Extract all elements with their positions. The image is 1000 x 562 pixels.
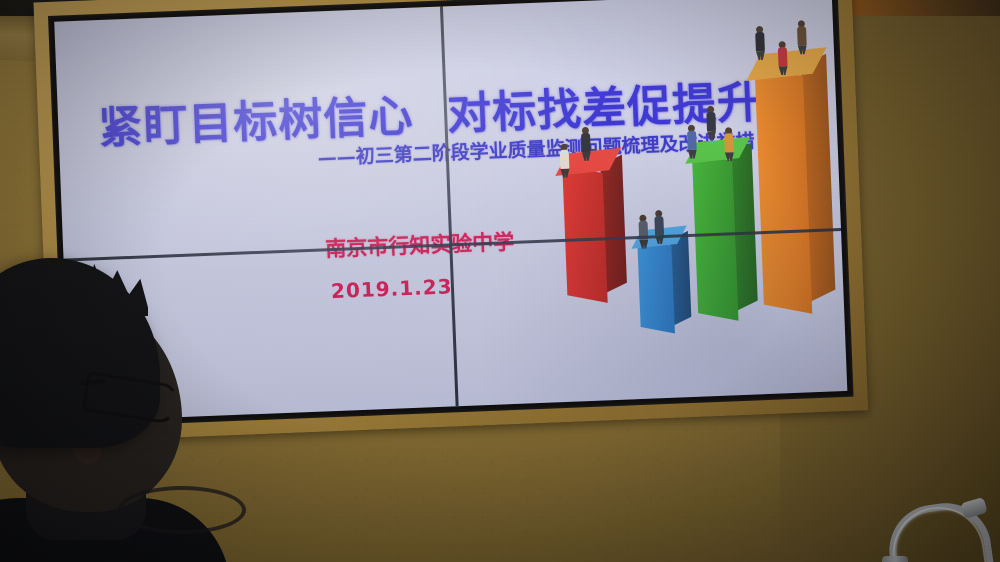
figurine-body	[778, 47, 788, 66]
figurine-blue-1	[638, 215, 648, 249]
figurine-legs	[756, 51, 765, 60]
figurine-body	[755, 32, 765, 51]
gooseneck-microphone[interactable]	[880, 470, 1000, 562]
figurine-green-2	[706, 106, 716, 140]
figurine-orange-2	[778, 41, 788, 75]
figurine-red-1	[559, 144, 569, 178]
figurine-orange-3	[797, 20, 807, 54]
slide-date: 2019.1.23	[331, 274, 453, 303]
photo-scene: 紧盯目标树信心对标找差促提升 ——初三第二阶段学业质量监测问题梳理及改进举措 南…	[0, 0, 1000, 562]
figurine-body	[560, 150, 570, 169]
figurine-legs	[707, 131, 716, 140]
figurine-body	[724, 133, 734, 152]
bar-chart-illustration	[547, 14, 831, 394]
figurine-red-2	[581, 127, 591, 161]
figurine-legs	[560, 169, 569, 178]
bar-orange-front	[755, 67, 813, 314]
figurine-green-3	[724, 127, 734, 161]
figurine-body	[797, 26, 807, 45]
figurine-green-1	[687, 125, 697, 159]
microphone-joint	[960, 497, 987, 519]
bar-green-front	[692, 153, 739, 321]
title-spacer	[414, 129, 448, 130]
bar-blue-front	[637, 239, 675, 333]
figurine-body	[654, 216, 664, 235]
figurine-body	[706, 112, 716, 131]
glasses-lens-lower	[118, 486, 246, 534]
figurine-legs	[688, 150, 697, 159]
figurine-legs	[798, 45, 807, 54]
figurine-body	[581, 133, 591, 152]
figurine-legs	[779, 66, 788, 75]
bar-red-front	[562, 165, 607, 303]
figurine-body	[687, 131, 697, 150]
figurine-legs	[582, 152, 591, 161]
microphone-base	[882, 556, 908, 562]
figurine-legs	[639, 240, 648, 249]
figurine-orange-1	[755, 26, 765, 60]
figurine-blue-2	[654, 210, 664, 244]
figurine-legs	[725, 152, 734, 161]
